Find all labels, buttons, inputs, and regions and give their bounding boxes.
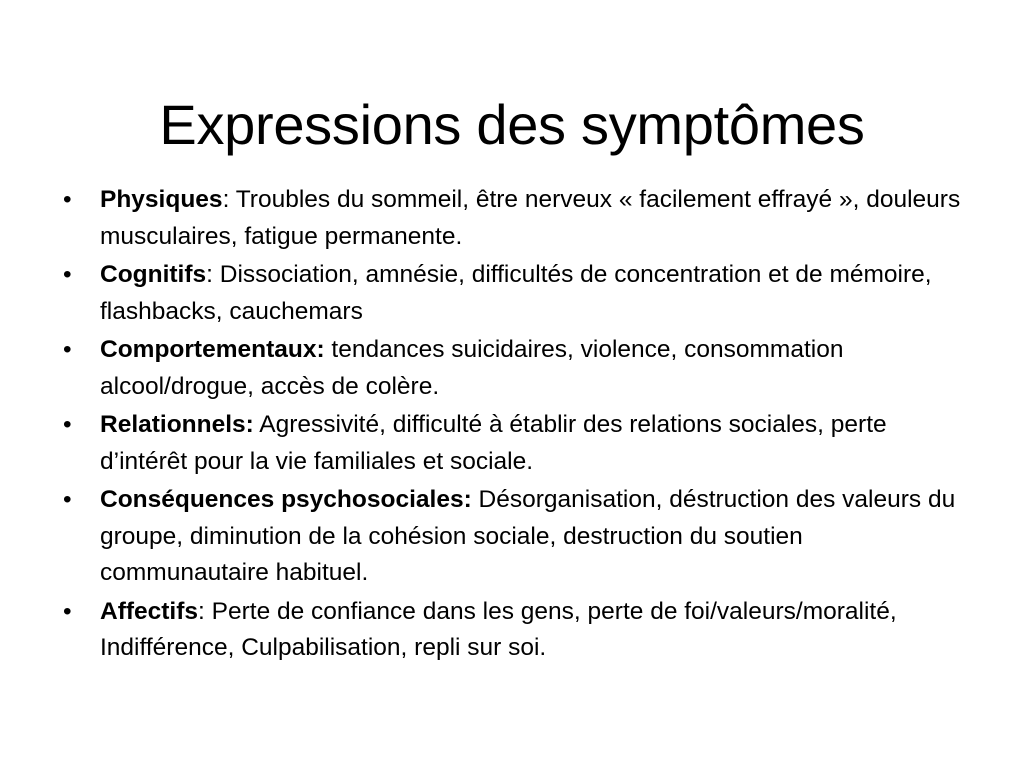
list-item: • Cognitifs: Dissociation, amnésie, diff… bbox=[52, 257, 972, 330]
bullet-point-icon: • bbox=[63, 182, 83, 219]
list-item-lead: Comportementaux: bbox=[100, 336, 325, 363]
list-item-body: Perte de confiance dans les gens, perte … bbox=[100, 598, 897, 662]
symptom-bullet-list: • Physiques: Troubles du sommeil, être n… bbox=[52, 182, 972, 669]
list-item-lead: Conséquences psychosociales: bbox=[100, 486, 472, 513]
list-item: • Physiques: Troubles du sommeil, être n… bbox=[52, 182, 972, 255]
list-item-body: Dissociation, amnésie, difficultés de co… bbox=[100, 261, 932, 325]
list-item-body: Troubles du sommeil, être nerveux « faci… bbox=[100, 186, 960, 250]
list-item-lead: Affectifs bbox=[100, 598, 198, 625]
list-item-content: Physiques: Troubles du sommeil, être ner… bbox=[100, 186, 960, 250]
page-title: Expressions des symptômes bbox=[0, 95, 1024, 155]
list-item-content: Relationnels: Agressivité, difficulté à … bbox=[100, 411, 887, 475]
list-item-lead: Physiques bbox=[100, 186, 223, 213]
list-item-lead: Relationnels: bbox=[100, 411, 254, 438]
list-item: • Relationnels: Agressivité, difficulté … bbox=[52, 407, 972, 480]
list-item: • Affectifs: Perte de confiance dans les… bbox=[52, 594, 972, 667]
bullet-point-icon: • bbox=[63, 257, 83, 294]
list-item-content: Affectifs: Perte de confiance dans les g… bbox=[100, 598, 897, 662]
list-item-content: Cognitifs: Dissociation, amnésie, diffic… bbox=[100, 261, 932, 325]
bullet-point-icon: • bbox=[63, 332, 83, 369]
list-item-separator: : bbox=[198, 598, 205, 625]
list-item-content: Conséquences psychosociales: Désorganisa… bbox=[100, 486, 955, 586]
bullet-point-icon: • bbox=[63, 594, 83, 631]
list-item: • Conséquences psychosociales: Désorgani… bbox=[52, 482, 972, 592]
bullet-point-icon: • bbox=[63, 482, 83, 519]
slide-canvas: Expressions des symptômes • Physiques: T… bbox=[0, 0, 1024, 768]
list-item-lead: Cognitifs bbox=[100, 261, 206, 288]
list-item-content: Comportementaux: tendances suicidaires, … bbox=[100, 336, 843, 400]
bullet-point-icon: • bbox=[63, 407, 83, 444]
list-item: • Comportementaux: tendances suicidaires… bbox=[52, 332, 972, 405]
list-item-separator: : bbox=[206, 261, 213, 288]
